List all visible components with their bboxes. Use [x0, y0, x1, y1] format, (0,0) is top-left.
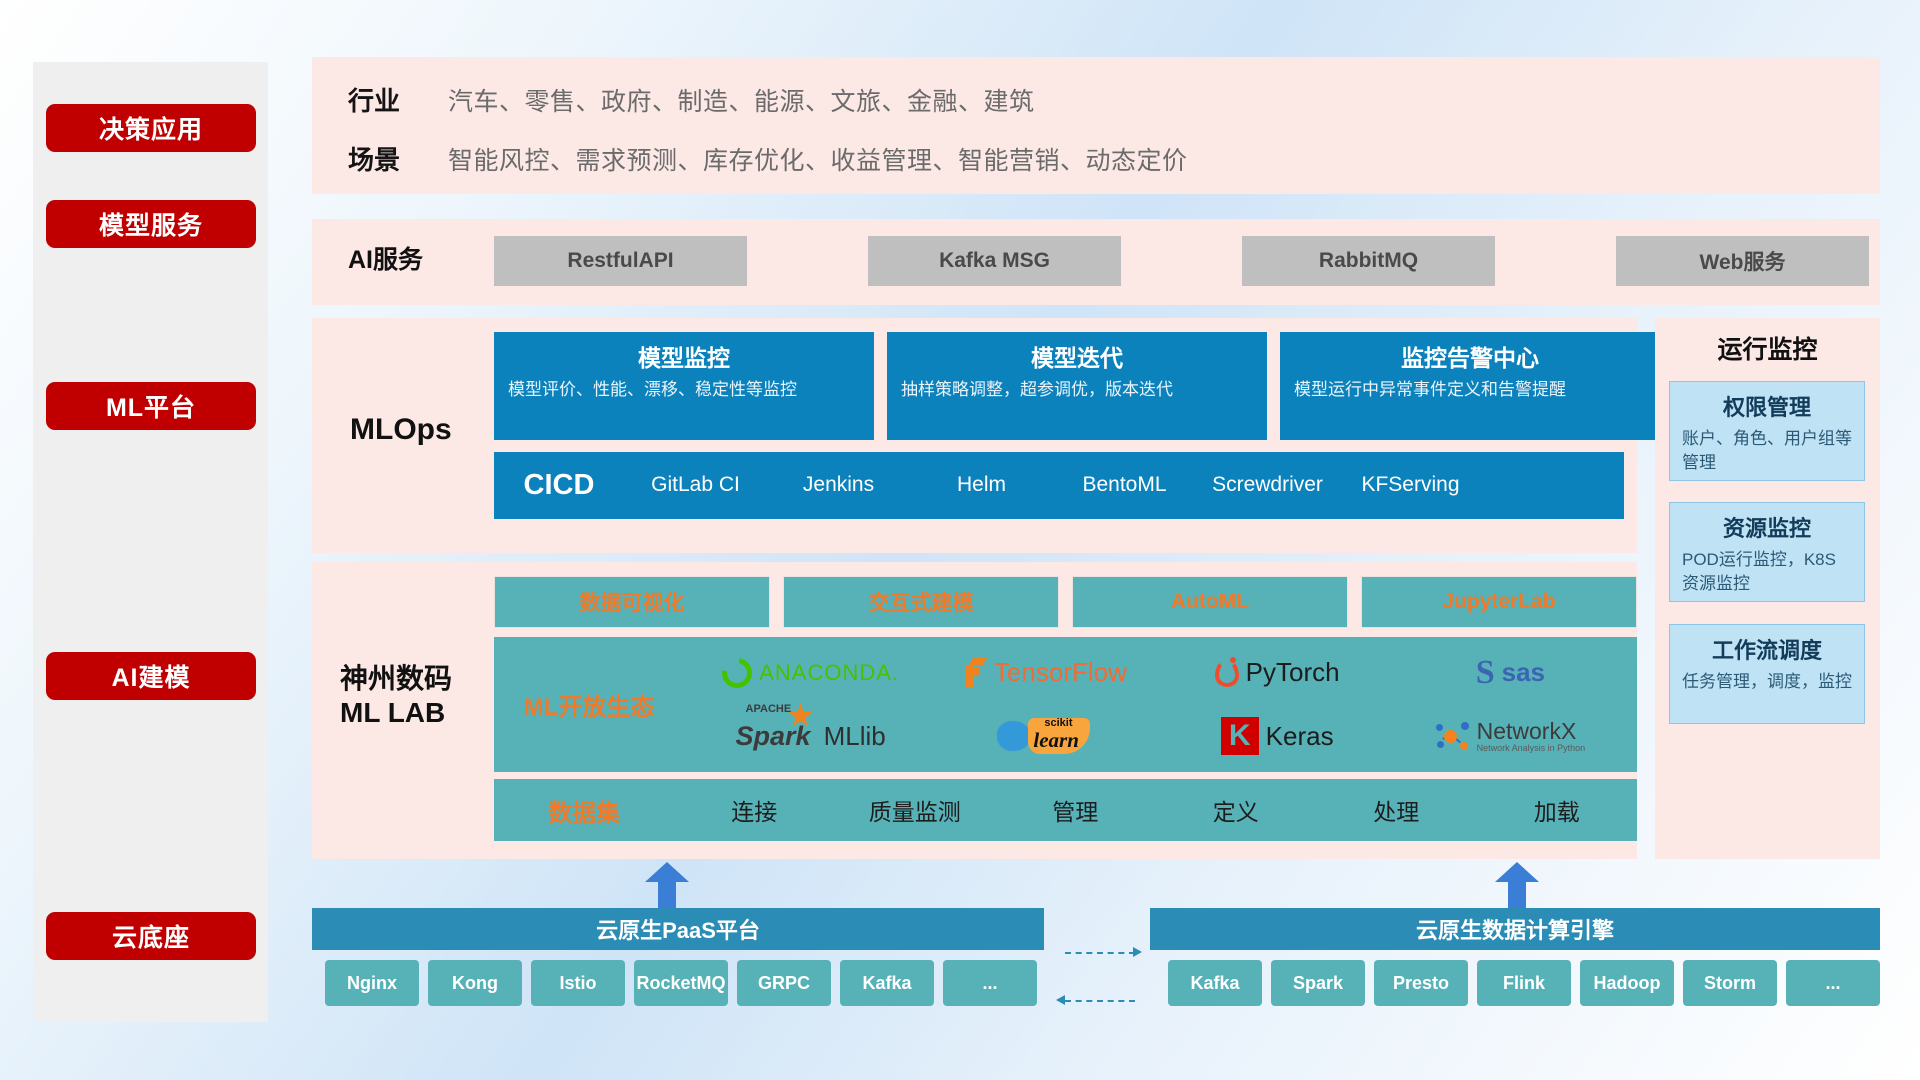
chip-nginx[interactable]: Nginx [325, 960, 419, 1006]
monitor-title: 运行监控 [1655, 330, 1880, 366]
chip-grpc[interactable]: GRPC [737, 960, 831, 1006]
chip-kafka-paas[interactable]: Kafka [840, 960, 934, 1006]
ops-card-model-iteration[interactable]: 模型迭代 抽样策略调整，超参调优，版本迭代 [887, 332, 1267, 440]
mllib-label: MLlib [824, 721, 886, 752]
chip-kafka-engine[interactable]: Kafka [1168, 960, 1262, 1006]
ops-card-desc: 模型运行中异常事件定义和告警提醒 [1294, 378, 1646, 402]
pytorch-logo: PyTorch [1215, 657, 1340, 688]
ops-card-title: 模型迭代 [901, 339, 1253, 373]
logo-grid: ANACONDA. TensorFlow PyTorch S [684, 637, 1637, 772]
dashed-arrowhead-left [1056, 995, 1065, 1005]
ops-card-desc: 模型评价、性能、漂移、稳定性等监控 [508, 378, 860, 402]
cicd-item-helm[interactable]: Helm [910, 470, 1053, 500]
spark-mllib-logo: APACHE Spark MLlib [736, 721, 886, 752]
sas-logo: S sas [1476, 656, 1545, 690]
stage-chip-decision[interactable]: 决策应用 [46, 104, 256, 152]
monitor-card-permissions[interactable]: 权限管理 账户、角色、用户组等管理 [1669, 381, 1865, 481]
cicd-item-screwdriver[interactable]: Screwdriver [1196, 470, 1339, 500]
scenario-value: 智能风控、需求预测、库存优化、收益管理、智能营销、动态定价 [448, 141, 1188, 177]
runtime-monitor-band: 运行监控 权限管理 账户、角色、用户组等管理 资源监控 POD运行监控，K8S资… [1655, 318, 1880, 859]
stage-chip-cloud-base[interactable]: 云底座 [46, 912, 256, 960]
tab-automl[interactable]: AutoML [1072, 576, 1348, 628]
keras-icon: K [1221, 717, 1259, 755]
chip-kong[interactable]: Kong [428, 960, 522, 1006]
monitor-card-resources[interactable]: 资源监控 POD运行监控，K8S资源监控 [1669, 502, 1865, 602]
ops-card-title: 监控告警中心 [1294, 339, 1646, 373]
industry-row: 行业 汽车、零售、政府、制造、能源、文旅、金融、建筑 [348, 81, 1035, 118]
mllab-label-line2: ML LAB [340, 696, 452, 730]
pytorch-label: PyTorch [1246, 657, 1340, 688]
arrow-engine-to-modeling [1495, 862, 1539, 910]
chip-spark[interactable]: Spark [1271, 960, 1365, 1006]
paas-platform-bar[interactable]: 云原生PaaS平台 [312, 908, 1044, 950]
monitor-card-title: 工作流调度 [1682, 633, 1852, 665]
dataset-item-define[interactable]: 定义 [1156, 793, 1317, 827]
scenario-key: 场景 [348, 140, 448, 177]
scikit-blue-icon [997, 721, 1031, 751]
stage-chip-ml-platform[interactable]: ML平台 [46, 382, 256, 430]
data-engine-bar[interactable]: 云原生数据计算引擎 [1150, 908, 1880, 950]
scikit-learn-logo: scikit learn [997, 718, 1090, 754]
sas-icon: S [1476, 656, 1495, 690]
dataset-item-quality[interactable]: 质量监测 [835, 793, 996, 827]
arrow-paas-to-modeling [645, 862, 689, 910]
monitor-card-workflow[interactable]: 工作流调度 任务管理，调度，监控 [1669, 624, 1865, 724]
ai-service-label: AI服务 [348, 245, 423, 276]
dataset-item-manage[interactable]: 管理 [995, 793, 1156, 827]
application-band: 行业 汽车、零售、政府、制造、能源、文旅、金融、建筑 场景 智能风控、需求预测、… [312, 57, 1880, 194]
stage-rail: 决策应用 模型服务 ML平台 AI建模 云底座 [33, 62, 268, 1022]
spark-label: Spark [736, 721, 811, 751]
pytorch-icon [1215, 659, 1239, 687]
anaconda-label: ANACONDA. [759, 660, 899, 686]
tensorflow-label: TensorFlow [994, 657, 1127, 688]
mllab-label-line1: 神州数码 [340, 662, 452, 696]
keras-logo: K Keras [1221, 717, 1334, 755]
cicd-item-jenkins[interactable]: Jenkins [767, 470, 910, 500]
mlops-label: MLOps [350, 412, 452, 449]
chip-more-engine[interactable]: ... [1786, 960, 1880, 1006]
chip-flink[interactable]: Flink [1477, 960, 1571, 1006]
dashed-link-left [1065, 1000, 1135, 1002]
learn-label: learn [1033, 728, 1079, 753]
networkx-icon [1436, 721, 1470, 751]
stage-chip-model-service[interactable]: 模型服务 [46, 200, 256, 248]
mlops-band: MLOps 模型监控 模型评价、性能、漂移、稳定性等监控 模型迭代 抽样策略调整… [312, 318, 1637, 553]
scikit-orange-icon: scikit learn [1028, 718, 1090, 754]
sas-label: sas [1502, 657, 1545, 688]
spark-apache-label: APACHE [746, 703, 792, 715]
anaconda-logo: ANACONDA. [722, 658, 899, 688]
dataset-bar: 数据集 连接 质量监测 管理 定义 处理 加载 [494, 779, 1637, 841]
monitor-card-desc: POD运行监控，K8S资源监控 [1682, 548, 1852, 596]
stage-chip-ai-modeling[interactable]: AI建模 [46, 652, 256, 700]
ops-card-desc: 抽样策略调整，超参调优，版本迭代 [901, 378, 1253, 402]
cicd-label: CICD [494, 469, 624, 502]
industry-value: 汽车、零售、政府、制造、能源、文旅、金融、建筑 [448, 82, 1035, 118]
tensorflow-logo: TensorFlow [961, 657, 1127, 688]
monitor-card-title: 权限管理 [1682, 390, 1852, 422]
dashed-arrowhead-right [1133, 947, 1142, 957]
dataset-item-load[interactable]: 加载 [1477, 793, 1638, 827]
tab-interactive-modeling[interactable]: 交互式建模 [783, 576, 1059, 628]
networkx-sublabel: Network Analysis in Python [1477, 744, 1586, 753]
ml-ecosystem-box: ML开放生态 ANACONDA. TensorFlow PyTo [494, 637, 1637, 772]
service-box-restfulapi[interactable]: RestfulAPI [494, 236, 747, 286]
cicd-item-kfserving[interactable]: KFServing [1339, 470, 1482, 500]
cicd-item-gitlab[interactable]: GitLab CI [624, 470, 767, 500]
chip-storm[interactable]: Storm [1683, 960, 1777, 1006]
keras-label: Keras [1266, 721, 1334, 752]
dataset-item-process[interactable]: 处理 [1316, 793, 1477, 827]
ecosystem-label: ML开放生态 [494, 687, 684, 722]
chip-hadoop[interactable]: Hadoop [1580, 960, 1674, 1006]
ai-modeling-band: 神州数码 ML LAB 数据可视化 交互式建模 AutoML JupyterLa… [312, 562, 1637, 859]
ops-card-title: 模型监控 [508, 339, 860, 373]
cicd-item-bentoml[interactable]: BentoML [1053, 470, 1196, 500]
industry-key: 行业 [348, 81, 448, 118]
chip-presto[interactable]: Presto [1374, 960, 1468, 1006]
service-box-kafka-msg[interactable]: Kafka MSG [868, 236, 1121, 286]
monitor-card-desc: 账户、角色、用户组等管理 [1682, 427, 1852, 475]
dashed-link-right [1065, 952, 1135, 954]
monitor-card-desc: 任务管理，调度，监控 [1682, 670, 1852, 694]
chip-more-paas[interactable]: ... [943, 960, 1037, 1006]
networkx-label: NetworkX [1477, 718, 1577, 744]
tensorflow-icon [961, 658, 987, 688]
mllab-label: 神州数码 ML LAB [340, 662, 452, 730]
architecture-diagram: 决策应用 模型服务 ML平台 AI建模 云底座 行业 汽车、零售、政府、制造、能… [0, 0, 1920, 1080]
scenario-row: 场景 智能风控、需求预测、库存优化、收益管理、智能营销、动态定价 [348, 140, 1188, 177]
tab-data-visualization[interactable]: 数据可视化 [494, 576, 770, 628]
chip-rocketmq[interactable]: RocketMQ [634, 960, 728, 1006]
ai-service-band: AI服务 RestfulAPI Kafka MSG RabbitMQ Web服务 [312, 219, 1880, 305]
tab-jupyterlab[interactable]: JupyterLab [1361, 576, 1637, 628]
dataset-item-connect[interactable]: 连接 [674, 793, 835, 827]
chip-istio[interactable]: Istio [531, 960, 625, 1006]
cicd-bar: CICD GitLab CI Jenkins Helm BentoML Scre… [494, 452, 1624, 519]
networkx-logo: NetworkX Network Analysis in Python [1436, 719, 1586, 753]
ops-card-model-monitoring[interactable]: 模型监控 模型评价、性能、漂移、稳定性等监控 [494, 332, 874, 440]
service-box-rabbitmq[interactable]: RabbitMQ [1242, 236, 1495, 286]
service-box-web[interactable]: Web服务 [1616, 236, 1869, 286]
monitor-card-title: 资源监控 [1682, 511, 1852, 543]
ops-card-alert-center[interactable]: 监控告警中心 模型运行中异常事件定义和告警提醒 [1280, 332, 1660, 440]
anaconda-icon [716, 652, 758, 694]
dataset-label: 数据集 [494, 793, 674, 828]
